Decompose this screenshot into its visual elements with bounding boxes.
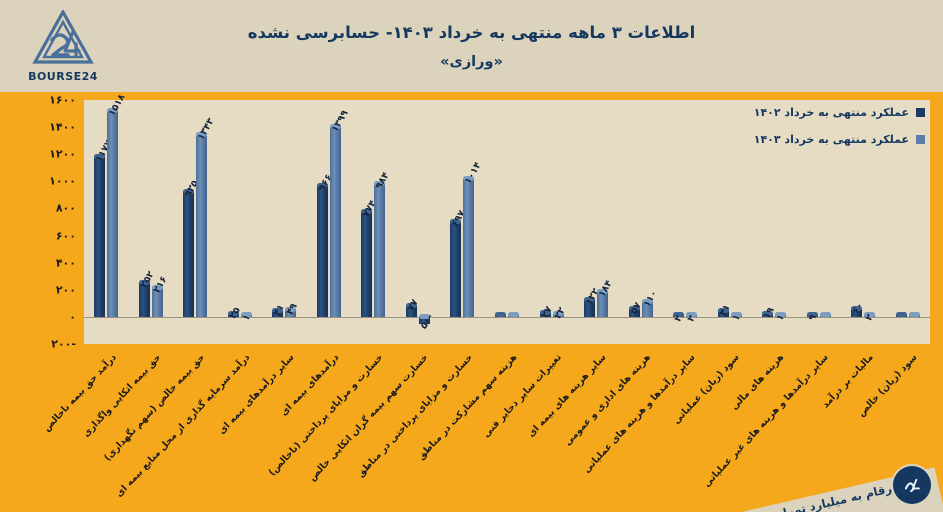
bar[interactable]: [508, 315, 519, 317]
y-axis-tick: ۱۶۰۰: [49, 94, 76, 107]
bar-value-label: ۲۷: [539, 305, 554, 321]
brand-logo: BOURSE24: [8, 4, 118, 88]
y-axis-tick: ۸۰۰: [56, 202, 76, 215]
page-header: BOURSE24 اطلاعات ۳ ماهه منتهی به خرداد ۱…: [0, 0, 943, 92]
bar-group: ۹۶۶۱۳۹۹: [307, 100, 352, 344]
bar-cap: [820, 312, 831, 317]
bar-value-label: ۱۳۴۳: [196, 116, 217, 142]
bar-group: ۹۲۵۱۳۴۳: [173, 100, 218, 344]
y-axis-tick: ۱۰۰۰: [49, 175, 76, 188]
bar[interactable]: [196, 135, 207, 317]
chart-container: ۱۶۰۰۱۴۰۰۱۲۰۰۱۰۰۰۸۰۰۶۰۰۴۰۰۲۰۰۰-۲۰۰ ۱۱۷۷۱۵…: [0, 92, 943, 512]
x-axis-labels: درآمد حق بیمه ناخالصحق بیمه اتکایی واگذا…: [84, 348, 930, 508]
bar-cap: [896, 312, 907, 317]
bar[interactable]: [909, 315, 920, 317]
bar[interactable]: [330, 127, 341, 317]
bar-value-label: ۱۰۱۴: [463, 161, 484, 187]
bar-group: ۵۷۱۱۰: [618, 100, 663, 344]
bar-cap: [508, 312, 519, 317]
bar-value-label: ۱۳۹۹: [329, 109, 350, 135]
bar[interactable]: [495, 315, 506, 317]
bar-value-label: ۹۸۴: [374, 170, 392, 191]
bar-group: [485, 100, 530, 344]
bar-group: ۶۹۷۱۰۱۴: [440, 100, 485, 344]
x-axis-label: سایر درآمدهای بیمه ای: [216, 352, 296, 437]
x-axis-label: هزینه های اداری و عمومی: [562, 352, 653, 448]
bar-group: ۲۷۲۲: [529, 100, 574, 344]
brand-wordmark: BOURSE24: [28, 70, 98, 83]
y-axis: ۱۶۰۰۱۴۰۰۱۲۰۰۱۰۰۰۸۰۰۶۰۰۴۰۰۲۰۰۰-۲۰۰: [0, 100, 82, 370]
legend-item-1403[interactable]: عملکرد منتهی به خرداد ۱۴۰۳: [754, 133, 925, 146]
legend-item-1402[interactable]: عملکرد منتهی به خرداد ۱۴۰۲: [754, 106, 925, 119]
bar-group: ۲۵۲۲۱۶: [129, 100, 174, 344]
header-title-block: اطلاعات ۳ ماهه منتهی به خرداد ۱۴۰۳- حساب…: [0, 0, 943, 92]
bar-group: ۷۷۴۹۸۴: [351, 100, 396, 344]
legend-swatch-icon: [916, 135, 925, 144]
bar[interactable]: [183, 192, 194, 317]
bar-group: ۲۲: [663, 100, 708, 344]
bar-cap: [909, 312, 920, 317]
y-axis-tick: -۲۰۰: [51, 338, 76, 351]
bar[interactable]: [107, 111, 118, 317]
bar-group: ۲۵۱: [218, 100, 263, 344]
y-axis-tick: ۶۰۰: [56, 229, 76, 242]
legend-label-1402: عملکرد منتهی به خرداد ۱۴۰۲: [754, 106, 909, 119]
bar-group: ۴۱۴۹: [262, 100, 307, 344]
bourse24-logo-icon: [32, 10, 94, 68]
y-axis-tick: ۱۲۰۰: [49, 148, 76, 161]
bar[interactable]: [374, 184, 385, 317]
bar[interactable]: [820, 315, 831, 317]
y-axis-tick: ۰: [69, 310, 76, 323]
legend-label-1403: عملکرد منتهی به خرداد ۱۴۰۳: [754, 133, 909, 146]
badge-glyph-icon: [899, 472, 925, 498]
bar[interactable]: [450, 222, 461, 316]
bar-value-label: ۲۲: [552, 305, 567, 321]
chart-legend: عملکرد منتهی به خرداد ۱۴۰۲ عملکرد منتهی …: [715, 106, 925, 146]
bar[interactable]: [94, 157, 105, 317]
page-subtitle: «ورازی»: [440, 54, 503, 70]
bar-value-label: ۱۵۱۸: [107, 93, 128, 119]
bourse24-badge-icon: [893, 466, 931, 504]
x-axis-label: سایر هزینه های بیمه ای: [525, 352, 608, 439]
bar-group: ۷۷-۵۰: [396, 100, 441, 344]
bar[interactable]: [317, 186, 328, 317]
x-axis-label: حق بیمه اتکایی واگذاری: [80, 352, 163, 439]
bar-cap: [495, 312, 506, 317]
y-axis-tick: ۴۰۰: [56, 256, 76, 269]
bar[interactable]: [463, 179, 474, 316]
bar[interactable]: [896, 315, 907, 317]
bar[interactable]: [361, 212, 372, 317]
page-title: اطلاعات ۳ ماهه منتهی به خرداد ۱۴۰۳- حساب…: [248, 23, 696, 42]
legend-swatch-icon: [916, 108, 925, 117]
bar-group: ۱۱۷۷۱۵۱۸: [84, 100, 129, 344]
y-axis-tick: ۲۰۰: [56, 283, 76, 296]
x-axis-label: تغییرات سایر ذخایر فنی: [481, 352, 564, 440]
y-axis-tick: ۱۴۰۰: [49, 121, 76, 134]
bar-group: ۱۲۲۱۸۴: [574, 100, 619, 344]
